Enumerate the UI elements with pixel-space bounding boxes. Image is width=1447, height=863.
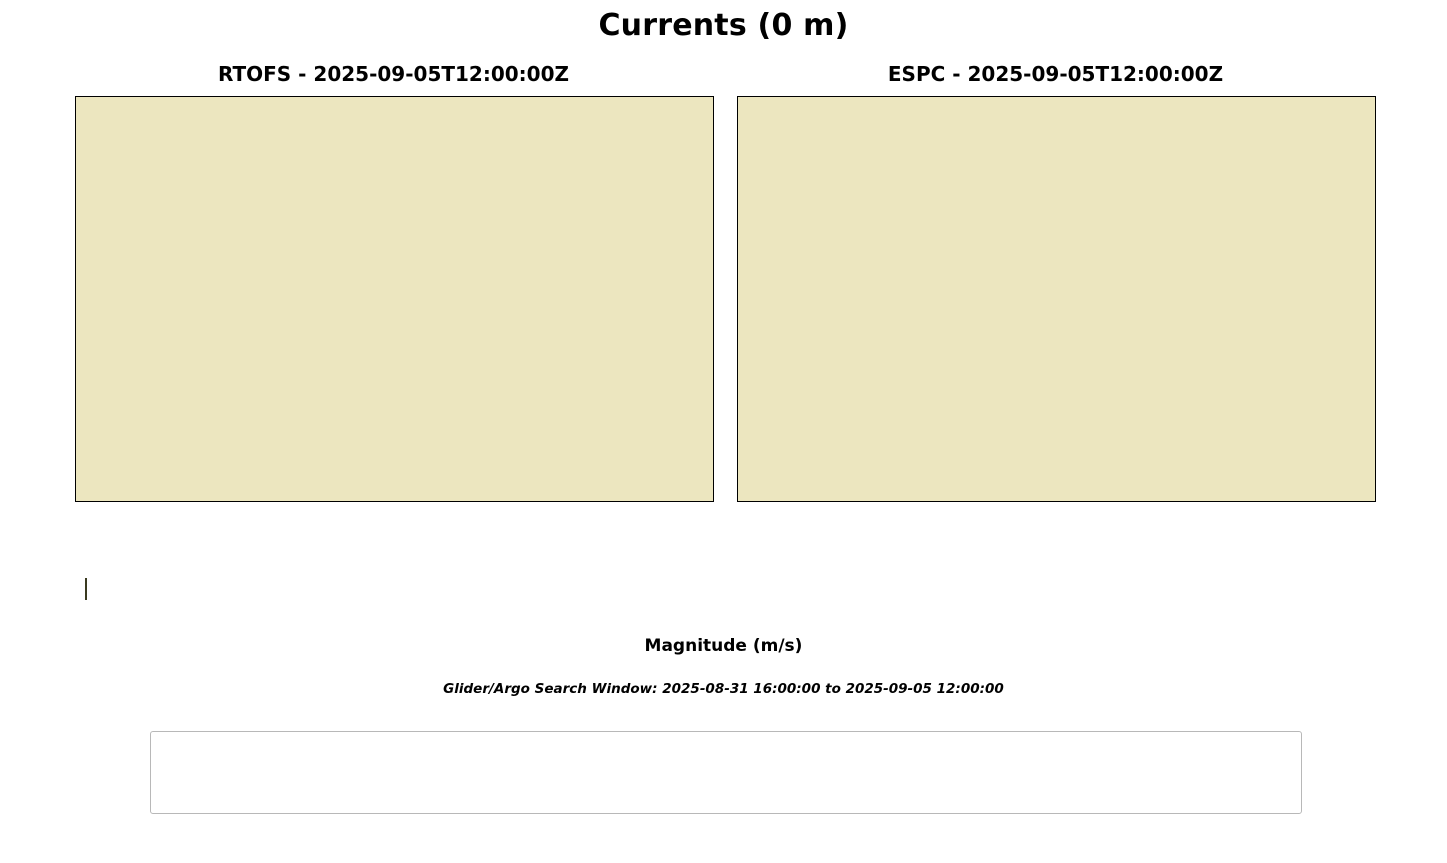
- colorbar-extend-arrow: [85, 577, 127, 600]
- map-panel-rtofs[interactable]: [75, 96, 714, 502]
- panel-title-espc: ESPC - 2025-09-05T12:00:00Z: [737, 62, 1374, 86]
- map-panel-espc[interactable]: [737, 96, 1376, 502]
- colorbar[interactable]: [85, 578, 1347, 600]
- colorbar-title: Magnitude (m/s): [0, 636, 1447, 656]
- figure-title: Currents (0 m): [0, 8, 1447, 43]
- platform-legend[interactable]: [150, 731, 1302, 814]
- panel-title-rtofs: RTOFS - 2025-09-05T12:00:00Z: [75, 62, 712, 86]
- search-window-caption: Glider/Argo Search Window: 2025-08-31 16…: [0, 681, 1447, 697]
